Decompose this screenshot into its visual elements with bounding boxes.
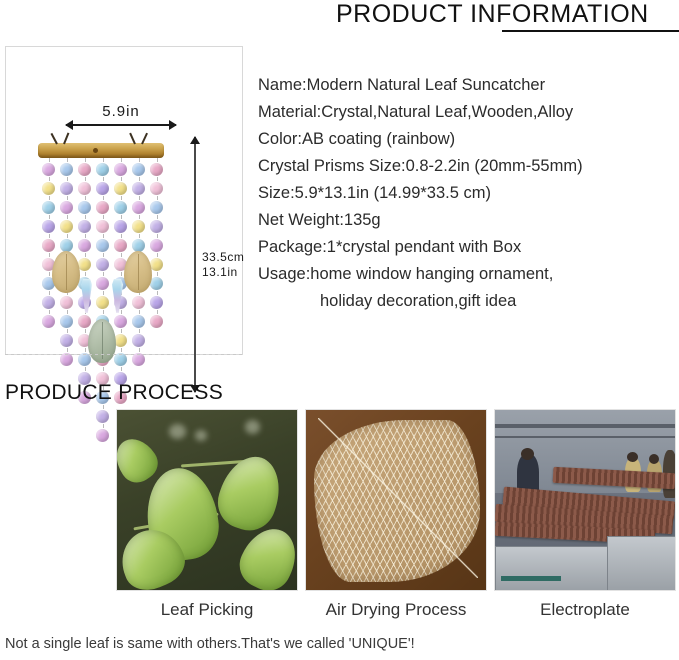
bead-link [85, 177, 86, 181]
bead-link [49, 215, 50, 219]
bead [60, 334, 73, 347]
process-photo-air-drying [305, 409, 487, 591]
process-photo-row [116, 409, 676, 591]
bead [42, 201, 55, 214]
info-line-material: Material:Crystal,Natural Leaf,Wooden,All… [258, 99, 679, 126]
bead-link [157, 291, 158, 295]
product-info-list: Name:Modern Natural Leaf Suncatcher Mate… [258, 72, 679, 315]
bead-strand [42, 158, 56, 329]
bead [78, 201, 91, 214]
info-line-name: Name:Modern Natural Leaf Suncatcher [258, 72, 679, 99]
bead-link [67, 329, 68, 333]
info-line-net-weight: Net Weight:135g [258, 207, 679, 234]
process-caption-row: Leaf Picking Air Drying Process Electrop… [116, 600, 676, 620]
bead [60, 296, 73, 309]
bead [78, 353, 91, 366]
bead [96, 220, 109, 233]
bead [114, 353, 127, 366]
bead [78, 163, 91, 176]
bead [78, 239, 91, 252]
bead-link [103, 158, 104, 162]
bead-link [121, 177, 122, 181]
bead [96, 277, 109, 290]
bead [114, 201, 127, 214]
bead [132, 201, 145, 214]
bead [150, 182, 163, 195]
bead [150, 220, 163, 233]
bead-link [49, 196, 50, 200]
bead-link [67, 310, 68, 314]
green-leaf-center [88, 319, 116, 363]
bead-link [67, 234, 68, 238]
bead-link [85, 215, 86, 219]
bead-link [49, 158, 50, 162]
bead-link [157, 272, 158, 276]
bead [150, 258, 163, 271]
bead-link [103, 196, 104, 200]
bead [132, 220, 145, 233]
bead-link [85, 234, 86, 238]
bead [96, 239, 109, 252]
bead [150, 239, 163, 252]
bead-strand [150, 158, 164, 329]
product-information-page: PRODUCT INFORMATION 5.9in 33.5cm 13.1in [0, 0, 679, 660]
bead [60, 353, 73, 366]
bead-link [85, 348, 86, 352]
bead-link [85, 272, 86, 276]
bead-link [139, 234, 140, 238]
bead-link [85, 253, 86, 257]
bead [60, 201, 73, 214]
bead-link [103, 177, 104, 181]
bead-link [85, 329, 86, 333]
process-photo-leaf-picking [116, 409, 298, 591]
bead-link [121, 215, 122, 219]
bead-link [85, 196, 86, 200]
bead [60, 315, 73, 328]
bead-link [139, 215, 140, 219]
bead [150, 296, 163, 309]
bead-link [157, 253, 158, 257]
bead-link [139, 158, 140, 162]
title-underline [502, 30, 679, 32]
bead [42, 239, 55, 252]
wooden-branch [38, 143, 164, 158]
bead [96, 182, 109, 195]
bead [78, 315, 91, 328]
bead [78, 258, 91, 271]
bead [42, 182, 55, 195]
bead [96, 258, 109, 271]
branch-knot [93, 148, 98, 153]
bead [150, 201, 163, 214]
bead [114, 220, 127, 233]
bead [132, 315, 145, 328]
bead-link [157, 196, 158, 200]
width-dimension-arrow [66, 124, 176, 126]
bead-link [139, 348, 140, 352]
bead [96, 410, 109, 423]
info-line-size: Size:5.9*13.1in (14.99*33.5 cm) [258, 180, 679, 207]
bead-link [85, 367, 86, 371]
bead-link [49, 291, 50, 295]
bead-link [157, 177, 158, 181]
height-label-in: 13.1in [202, 265, 244, 280]
info-line-color: Color:AB coating (rainbow) [258, 126, 679, 153]
bead-link [85, 158, 86, 162]
info-line-usage: Usage:home window hanging ornament, [258, 261, 679, 288]
bead [132, 334, 145, 347]
bead [132, 163, 145, 176]
bead-link [121, 253, 122, 257]
page-title-block: PRODUCT INFORMATION [336, 0, 679, 36]
bead [42, 163, 55, 176]
bead-link [121, 329, 122, 333]
bead-link [157, 234, 158, 238]
footnote-text: Not a single leaf is same with others.Th… [5, 636, 415, 652]
bead [150, 163, 163, 176]
bead [96, 429, 109, 442]
bead-link [103, 310, 104, 314]
bead-link [157, 158, 158, 162]
page-title: PRODUCT INFORMATION [336, 0, 679, 28]
height-dimension-arrow [194, 137, 196, 392]
bead [78, 182, 91, 195]
bead-link [103, 272, 104, 276]
product-diagram-frame: 5.9in 33.5cm 13.1in [5, 46, 243, 355]
bead [60, 182, 73, 195]
bead [132, 182, 145, 195]
info-line-prism-size: Crystal Prisms Size:0.8-2.2in (20mm-55mm… [258, 153, 679, 180]
bead-link [157, 310, 158, 314]
bead [114, 182, 127, 195]
bead-link [103, 291, 104, 295]
bead-link [157, 215, 158, 219]
bead [96, 296, 109, 309]
gold-leaf-left [52, 251, 80, 293]
caption-leaf-picking: Leaf Picking [116, 600, 298, 620]
bead-link [139, 177, 140, 181]
width-dimension-label: 5.9in [66, 103, 176, 120]
bead [132, 353, 145, 366]
height-label-cm: 33.5cm [202, 250, 244, 265]
bead-link [67, 215, 68, 219]
bead-link [103, 367, 104, 371]
bead-link [121, 348, 122, 352]
bead-link [139, 310, 140, 314]
bead [60, 220, 73, 233]
bead [114, 163, 127, 176]
bead-link [139, 329, 140, 333]
bead-link [49, 253, 50, 257]
bead [114, 239, 127, 252]
caption-electroplate: Electroplate [494, 600, 676, 620]
bead-link [67, 348, 68, 352]
bead [114, 315, 127, 328]
produce-process-title: PRODUCE PROCESS [5, 381, 223, 405]
process-photo-electroplate [494, 409, 676, 591]
bead-link [103, 234, 104, 238]
bead-link [139, 196, 140, 200]
info-line-package: Package:1*crystal pendant with Box [258, 234, 679, 261]
bead-link [67, 196, 68, 200]
bead-link [103, 215, 104, 219]
bead-link [49, 234, 50, 238]
bead-link [103, 405, 104, 409]
bead [150, 277, 163, 290]
bead [132, 296, 145, 309]
bead-link [121, 272, 122, 276]
bead-link [49, 177, 50, 181]
height-dimension-label: 33.5cm 13.1in [202, 250, 244, 280]
bead [42, 315, 55, 328]
bead-link [103, 253, 104, 257]
bead-link [121, 310, 122, 314]
info-line-usage-continued: holiday decoration,gift idea [258, 288, 679, 315]
bead-link [103, 424, 104, 428]
bead [78, 220, 91, 233]
suncatcher-illustration [32, 129, 172, 394]
bead-link [67, 177, 68, 181]
caption-air-drying: Air Drying Process [305, 600, 487, 620]
bead-link [49, 272, 50, 276]
bead [96, 163, 109, 176]
bead-link [121, 196, 122, 200]
bead-link [121, 158, 122, 162]
leaf-midrib [318, 418, 478, 578]
bead-link [49, 310, 50, 314]
bead-link [121, 234, 122, 238]
bead [42, 220, 55, 233]
bead [96, 201, 109, 214]
bead-link [67, 158, 68, 162]
bead [60, 163, 73, 176]
gold-leaf-right [124, 251, 152, 293]
bead-link [121, 367, 122, 371]
bead [150, 315, 163, 328]
bead [42, 296, 55, 309]
